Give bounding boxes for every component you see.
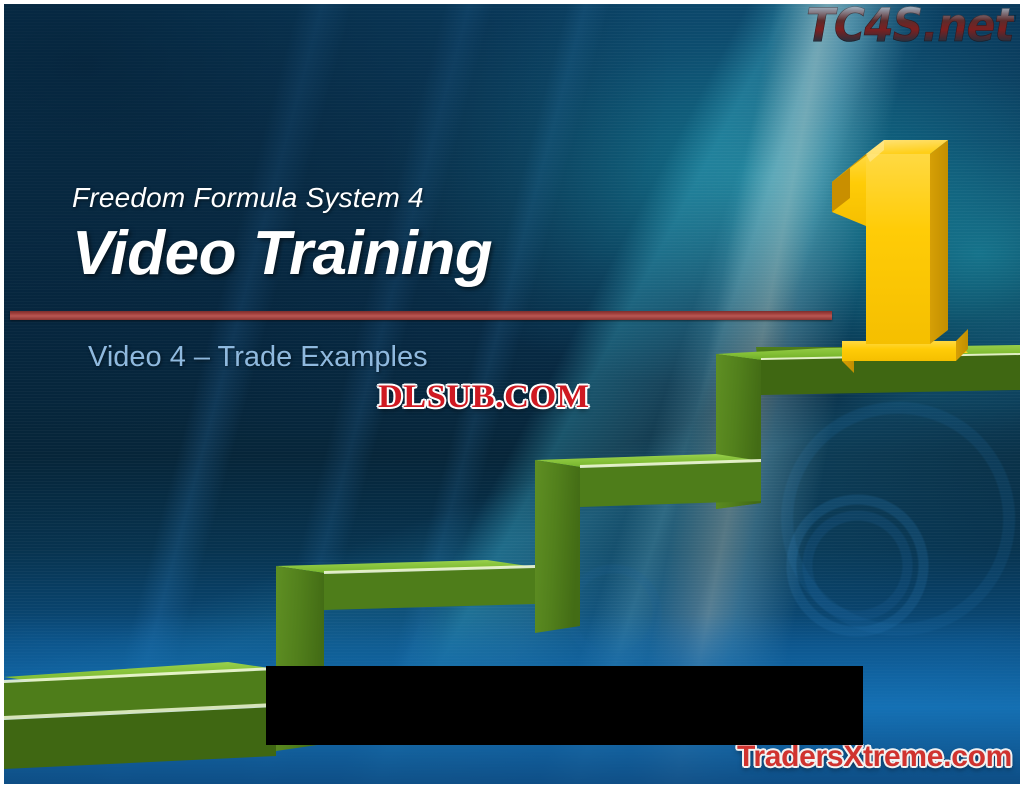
slide-frame: Freedom Formula System 4 Video Training …	[0, 0, 1024, 791]
golden-numeral-one	[832, 140, 968, 373]
subtitle-text: Video 4 – Trade Examples	[88, 341, 428, 374]
stair-step-1	[4, 662, 276, 769]
page-title: Video Training	[72, 218, 492, 289]
watermark-dlsub: DLSUB.COM	[378, 379, 590, 416]
watermark-tradersxtreme: TradersXtreme.com	[737, 740, 1012, 774]
watermark-tc4s: TC4S.net	[806, 4, 1014, 52]
eyebrow-text: Freedom Formula System 4	[72, 182, 424, 214]
accent-divider	[10, 311, 832, 320]
black-redaction-bar	[266, 666, 863, 745]
slide-canvas: Freedom Formula System 4 Video Training …	[4, 4, 1020, 784]
